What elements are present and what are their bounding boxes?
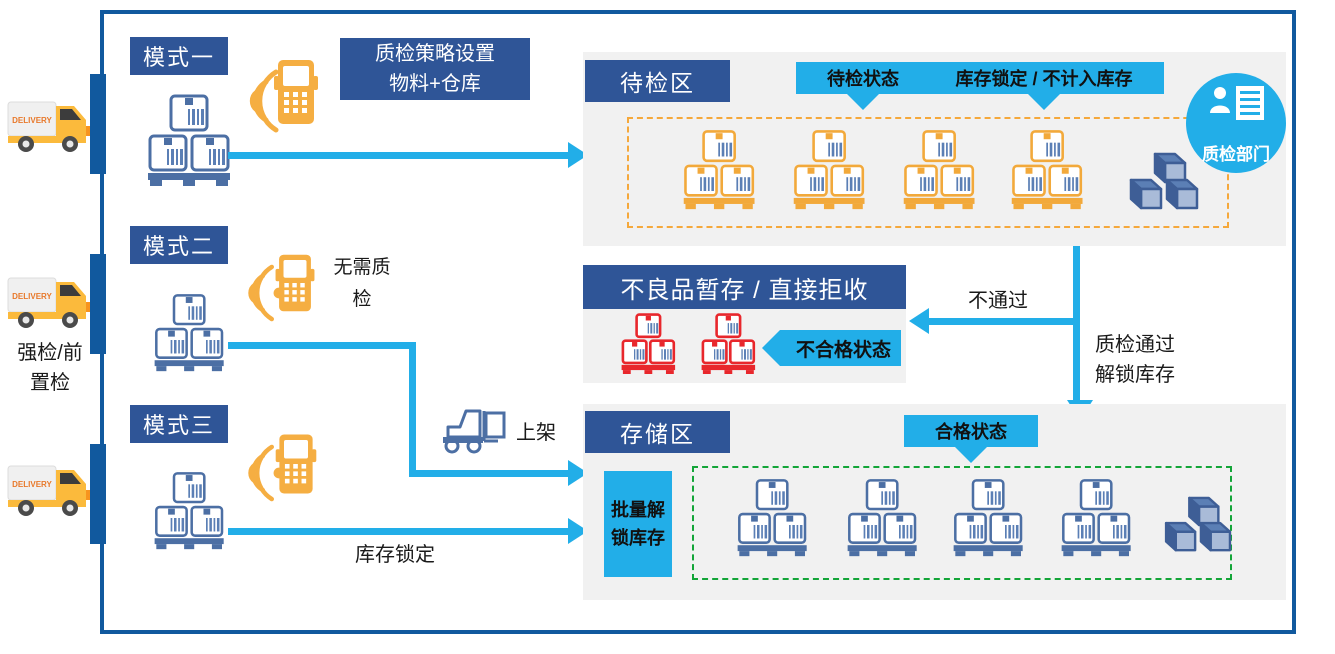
qc-department-badge: 质检部门	[1186, 73, 1286, 173]
truck-middle: DELIVERY	[6, 272, 94, 330]
pallet-orange-2	[782, 128, 878, 210]
pending-zone-title: 待检区	[585, 60, 730, 102]
callout-qualified-status: 合格状态	[904, 415, 1038, 447]
callout-nonconforming-status: 不合格状态	[780, 330, 901, 366]
handheld-scanner-mode3	[272, 432, 320, 496]
handheld-scanner-mode1	[270, 58, 322, 126]
stacked-boxes-icon-storage	[1160, 496, 1238, 556]
callout-pending-status: 待检状态	[796, 62, 930, 94]
pallet-blue-mode2	[140, 292, 240, 372]
inventory-lock-label: 库存锁定	[355, 542, 435, 568]
fail-label: 不通过	[968, 288, 1028, 314]
forklift-icon	[440, 405, 512, 453]
pallet-blue-store-2	[838, 477, 928, 557]
qc-department-label: 质检部门	[1202, 140, 1270, 165]
truck-badge-text: DELIVERY	[12, 116, 52, 125]
pallet-blue-store-4	[1052, 477, 1142, 557]
pallet-orange-3	[892, 128, 988, 210]
bulk-unlock-box: 批量解 锁库存	[604, 471, 672, 577]
callout-tail	[1028, 94, 1060, 110]
left-rail: DELIVERY DELIVERY 强检/前 置检 DELIVERY	[0, 0, 100, 654]
mode2-note: 无需质 检	[326, 252, 398, 316]
mode-tag-1: 模式一	[130, 37, 228, 75]
storage-zone-title: 存储区	[585, 411, 730, 453]
reject-zone-title: 不良品暂存 / 直接拒收	[583, 265, 906, 309]
callout-nonconforming-label: 不合格状态	[796, 335, 891, 362]
arrow-fail-h	[929, 318, 1077, 325]
arrow-mode3-line	[228, 528, 568, 535]
pallet-blue-mode3	[140, 470, 240, 550]
truck-badge-text: DELIVERY	[12, 480, 52, 489]
callout-qualified-label: 合格状态	[935, 418, 1007, 444]
qc-policy-box: 质检策略设置 物料+仓库	[340, 38, 530, 100]
pallet-blue-store-3	[944, 477, 1034, 557]
mode-tag-2: 模式二	[130, 226, 228, 264]
frame-tab-2	[90, 254, 106, 354]
truck-top: DELIVERY	[6, 96, 94, 154]
arrow-mode2-h	[228, 342, 416, 349]
left-rail-label: 强检/前 置检	[2, 338, 98, 398]
truck-badge-text: DELIVERY	[12, 292, 52, 301]
stacked-boxes-icon-pending	[1125, 152, 1205, 214]
arrow-mode2-h2	[409, 470, 569, 477]
arrow-mode1-line	[228, 152, 568, 159]
pallet-orange-4	[1000, 128, 1096, 210]
truck-bottom: DELIVERY	[6, 460, 94, 518]
callout-tail	[762, 330, 780, 366]
callout-tail	[955, 447, 987, 463]
frame-tab-1	[90, 74, 106, 174]
arrow-fail-head	[909, 308, 929, 334]
pallet-orange-1	[672, 128, 768, 210]
callout-inventory-lock-label: 库存锁定 / 不计入库存	[955, 65, 1132, 91]
pallet-red-1	[613, 312, 685, 374]
pallet-blue-store-1	[728, 477, 818, 557]
pallet-red-2	[693, 312, 765, 374]
person-document-icon	[1208, 85, 1266, 125]
callout-tail	[847, 94, 879, 110]
callout-inventory-lock: 库存锁定 / 不计入库存	[924, 62, 1164, 94]
pass-label: 质检通过 解锁库存	[1095, 330, 1175, 390]
pallet-blue-mode1	[140, 92, 240, 187]
arrow-mode2-v	[409, 342, 416, 476]
frame-tab-3	[90, 444, 106, 544]
callout-pending-status-label: 待检状态	[827, 65, 899, 91]
mode-tag-3: 模式三	[130, 405, 228, 443]
forklift-label: 上架	[516, 420, 556, 446]
handheld-scanner-mode2	[272, 252, 318, 314]
